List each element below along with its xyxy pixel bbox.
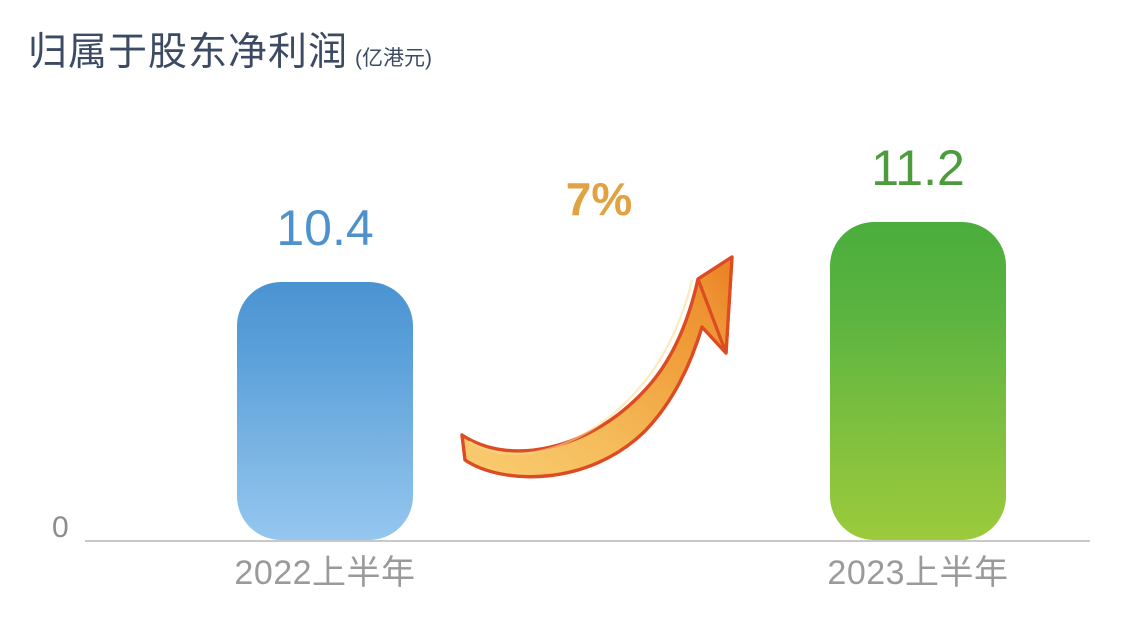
growth-arrow-icon — [440, 235, 750, 480]
axis-zero-label: 0 — [52, 513, 69, 543]
bar-value-label-2022: 10.4 — [237, 203, 413, 253]
bar-value-label-2023: 11.2 — [830, 143, 1006, 193]
chart-container: 归属于股东净利润(亿港元) 0 10.4 11.2 — [0, 0, 1134, 618]
axis-baseline — [85, 540, 1090, 542]
growth-rate-label: 7% — [540, 176, 658, 222]
plot-area: 0 10.4 11.2 — [0, 0, 1134, 618]
category-label-2022: 2022上半年 — [195, 556, 455, 590]
bar-2022[interactable] — [237, 282, 413, 540]
category-label-2023: 2023上半年 — [788, 556, 1048, 590]
bar-2023[interactable] — [830, 222, 1006, 540]
